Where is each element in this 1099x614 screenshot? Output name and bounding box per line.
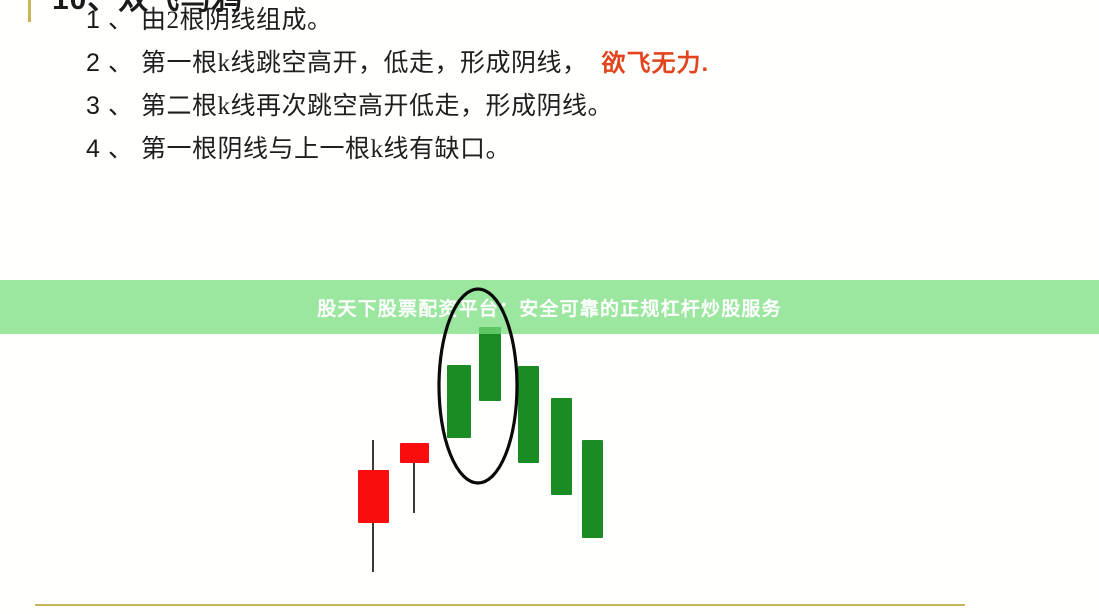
list-item-text: 由2根阴线组成。: [141, 0, 333, 36]
list-item-number: 3: [86, 92, 108, 121]
list-item: 2 、 第一根k线跳空高开，低走，形成阴线， 欲飞无力.: [0, 43, 1099, 86]
list-item-separator: 、: [108, 0, 133, 36]
list-item-number: 2: [86, 49, 108, 78]
candlestick-chart: [0, 270, 1099, 590]
list-item-separator: 、: [108, 43, 133, 79]
candle-7-body: [582, 440, 603, 538]
list-item-text: 第一根k线跳空高开，低走，形成阴线，: [141, 43, 588, 79]
list-item: 4 、 第一根阴线与上一根k线有缺口。: [0, 129, 1099, 172]
list-item-separator: 、: [108, 129, 133, 165]
list-item-number: 4: [86, 135, 108, 164]
list-item-text: 第二根k线再次跳空高开低走，形成阴线。: [141, 86, 613, 122]
list-item-emphasis: 欲飞无力.: [602, 43, 710, 78]
candle-1-body: [358, 470, 389, 523]
candle-4-body: [479, 327, 501, 401]
candle-6-body: [551, 398, 572, 495]
list-item-text: 第一根阴线与上一根k线有缺口。: [141, 129, 511, 165]
candle-5-body: [518, 366, 539, 463]
candle-2-body: [400, 443, 429, 463]
rules-list: 1 、 由2根阴线组成。 2 、 第一根k线跳空高开，低走，形成阴线， 欲飞无力…: [0, 0, 1099, 172]
candle-3-body: [447, 365, 471, 438]
list-item: 1 、 由2根阴线组成。: [0, 0, 1099, 43]
list-item-number: 1: [86, 6, 108, 35]
list-item: 3 、 第二根k线再次跳空高开低走，形成阴线。: [0, 86, 1099, 129]
list-item-separator: 、: [108, 86, 133, 122]
bottom-divider: [35, 604, 965, 606]
